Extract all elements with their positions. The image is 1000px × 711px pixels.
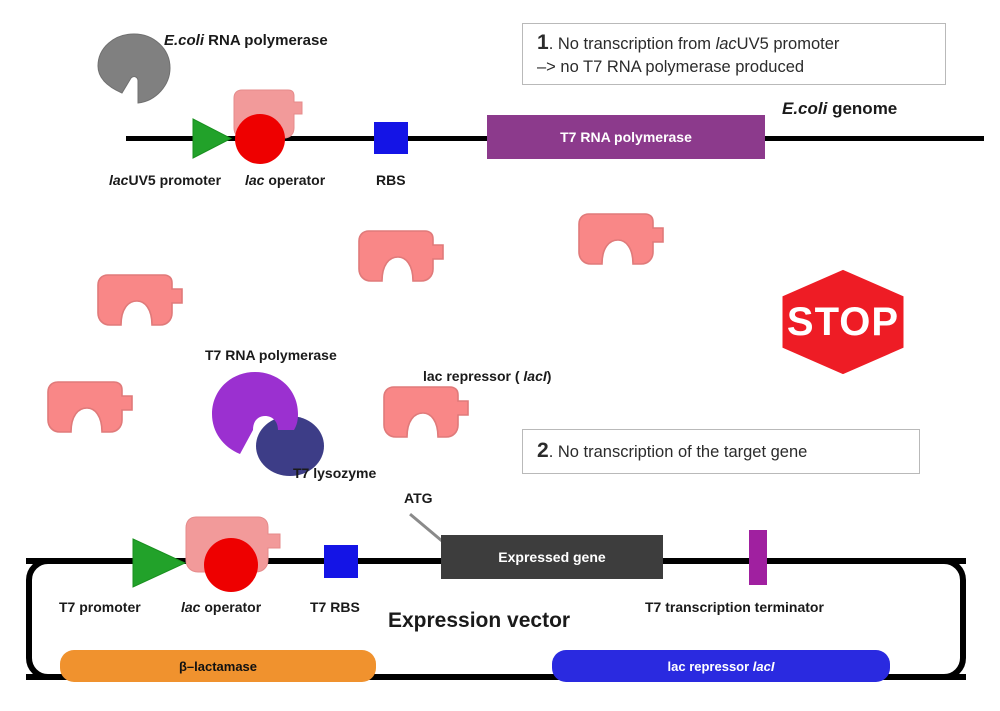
lac-repressor-free-icon xyxy=(357,229,445,285)
t7-rna-polymerase-gene-box: T7 RNA polymerase xyxy=(487,115,765,159)
figure-canvas: E.coli RNA polymerase T7 RNA polymerase … xyxy=(0,0,1000,711)
callout-1-line1-italic: lac xyxy=(716,35,737,53)
t7-rbs-label: T7 RBS xyxy=(310,600,360,615)
rbs-label-genome: RBS xyxy=(376,173,406,188)
t7-rna-polymerase-gene-label: T7 RNA polymerase xyxy=(560,129,692,145)
lac-repressor-label: lac repressor ( lacI) xyxy=(423,369,551,384)
t7-rna-polymerase-protein-icon xyxy=(210,371,300,459)
t7-rna-polymerase-protein-label: T7 RNA polymerase xyxy=(205,348,337,363)
laci-gene-box: lac repressor lacI xyxy=(552,650,890,682)
t7-promoter-icon xyxy=(131,537,187,589)
t7-terminator-label: T7 transcription terminator xyxy=(645,600,824,615)
ecoli-rna-polymerase-label: E.coli RNA polymerase xyxy=(164,33,328,50)
lac-repressor-free-icon xyxy=(577,212,665,268)
lac-operator-icon-vector xyxy=(203,537,259,593)
beta-lactamase-gene-box: β–lactamase xyxy=(60,650,376,682)
lac-repressor-free-icon xyxy=(96,273,184,329)
callout-2-number: 2 xyxy=(537,439,549,462)
lac-operator-label-genome: lac operator xyxy=(245,173,325,188)
t7-lysozyme-label: T7 lysozyme xyxy=(293,466,376,481)
callout-1-line2: –> no T7 RNA polymerase produced xyxy=(537,57,839,78)
atg-label: ATG xyxy=(404,491,433,506)
stop-sign-icon: STOP xyxy=(772,263,914,381)
lac-operator-icon xyxy=(234,113,286,165)
ecoli-rna-polymerase-icon xyxy=(96,33,172,105)
beta-lactamase-label: β–lactamase xyxy=(179,659,257,674)
t7-terminator-bar xyxy=(749,530,767,585)
lac-repressor-free-icon xyxy=(46,380,134,436)
callout-1-line1-post: UV5 promoter xyxy=(737,35,840,53)
callout-box-2: 2. No transcription of the target gene xyxy=(522,429,920,474)
lacuv5-promoter-label: lacUV5 promoter xyxy=(109,173,221,188)
callout-2-line1: . No transcription of the target gene xyxy=(549,443,808,461)
expressed-gene-label: Expressed gene xyxy=(498,549,605,565)
callout-box-1: 1. No transcription from lacUV5 promoter… xyxy=(522,23,946,85)
t7-rbs-box xyxy=(324,545,358,578)
lac-operator-label-vector: lac operator xyxy=(181,600,261,615)
t7-promoter-label: T7 promoter xyxy=(59,600,141,615)
lac-repressor-labeled-icon xyxy=(382,385,470,441)
rbs-box-genome xyxy=(374,122,408,154)
laci-gene-label: lac repressor lacI xyxy=(668,659,775,674)
expression-vector-title: Expression vector xyxy=(388,609,570,632)
expressed-gene-box: Expressed gene xyxy=(441,535,663,579)
lacuv5-promoter-icon xyxy=(191,117,233,160)
ecoli-genome-label: E.coli genome xyxy=(782,100,897,119)
callout-1-line1-pre: . No transcription from xyxy=(549,35,716,53)
callout-1-number: 1 xyxy=(537,31,549,54)
